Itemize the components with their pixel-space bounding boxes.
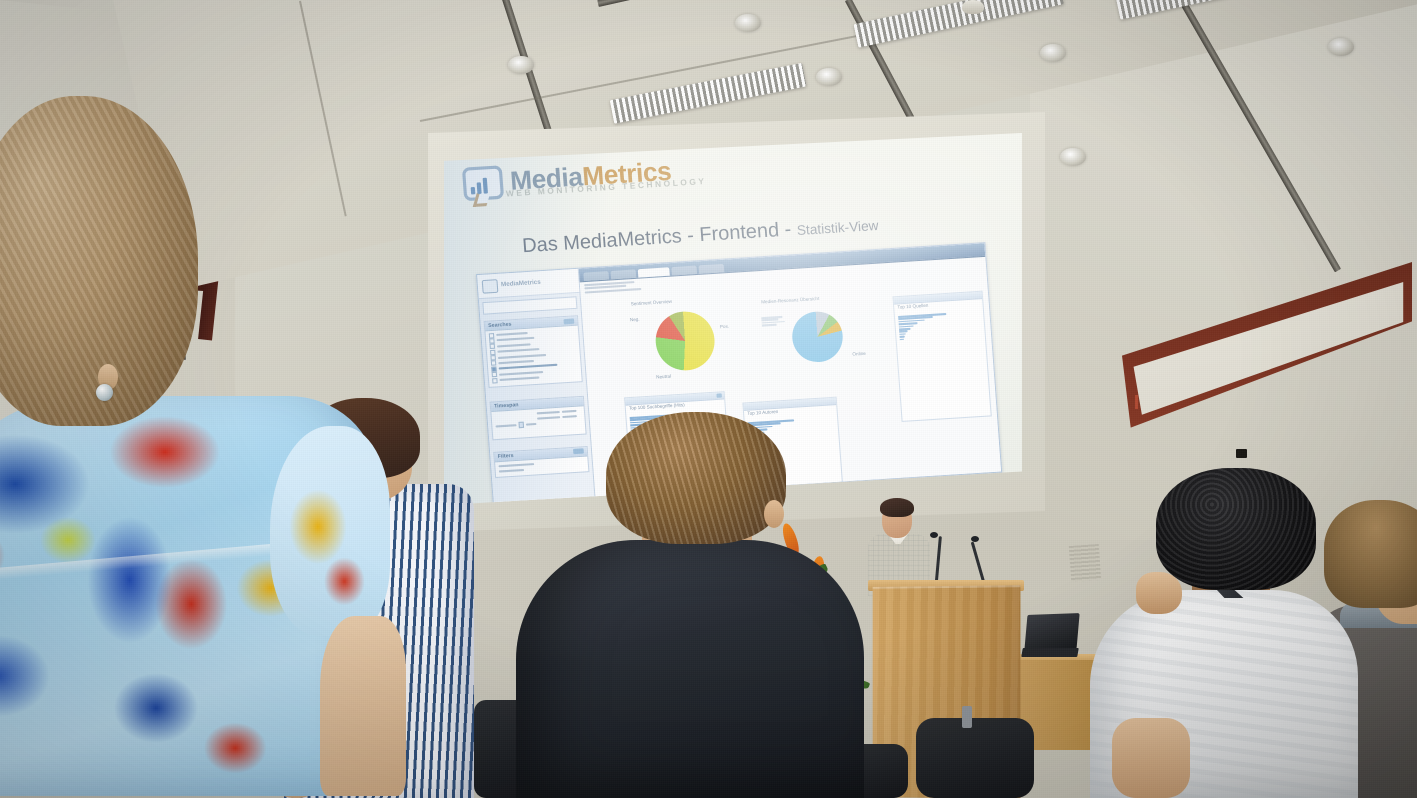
panel-body-searches bbox=[485, 326, 581, 387]
dark-navy-shirt bbox=[516, 540, 864, 798]
speech-bubble-bar-chart-icon bbox=[462, 165, 504, 201]
pie-legend-label: Pos. bbox=[720, 323, 730, 329]
hbars-themen bbox=[992, 308, 1003, 367]
chair bbox=[916, 718, 1034, 798]
laptop-screen bbox=[1024, 613, 1079, 651]
downlight-icon bbox=[735, 14, 761, 32]
chart-card-quellen: Top 10 Quellen bbox=[892, 291, 991, 422]
downlight-icon bbox=[1040, 44, 1066, 62]
chart-card-sentiment: Sentiment Overview Neg. Pos. Neutral bbox=[627, 293, 751, 384]
person-white-shirt bbox=[1108, 468, 1358, 798]
sidebar-logo-icon bbox=[482, 279, 499, 294]
hbars-quellen bbox=[895, 309, 985, 343]
chart-title-quellen: Top 10 Quellen bbox=[897, 303, 928, 310]
pie-legend-label: Neg. bbox=[630, 316, 640, 322]
dashboard-sidebar-logo: MediaMetrics bbox=[477, 269, 579, 299]
pie-legend-label: Neutral bbox=[656, 373, 671, 379]
tab-export[interactable] bbox=[699, 264, 725, 274]
chart-title-sentiment: Sentiment Overview bbox=[631, 299, 673, 307]
person-dark-shirt bbox=[520, 412, 860, 798]
interpreter-booth-window bbox=[1122, 262, 1412, 442]
downlight-icon bbox=[1328, 38, 1354, 56]
earring bbox=[96, 384, 113, 401]
panel-header-timespan-label: Timespan bbox=[494, 401, 519, 409]
hand bbox=[1136, 572, 1182, 614]
forearm bbox=[1112, 718, 1190, 798]
sidebar-logo-text: MediaMetrics bbox=[501, 280, 541, 289]
slide-title-suffix: Statistik-View bbox=[796, 217, 879, 238]
downlight-icon bbox=[816, 68, 842, 86]
microphone-head-icon bbox=[971, 536, 979, 542]
chair-post bbox=[962, 706, 972, 728]
pie-chart-sentiment bbox=[654, 310, 717, 372]
presentation-room-photo: MediaMetrics Web Monitoring Technology D… bbox=[0, 0, 1417, 798]
tab-dashboard[interactable] bbox=[583, 271, 609, 281]
dashboard-search-input[interactable] bbox=[482, 296, 577, 315]
sidebar-panel-searches: Searches bbox=[484, 315, 583, 387]
hair bbox=[1156, 468, 1316, 590]
smoke-detector-icon bbox=[962, 0, 984, 14]
tab-reports[interactable] bbox=[671, 266, 697, 276]
pie-legend-label: Online bbox=[852, 351, 866, 357]
chart-card-resonanz: Medien-Resonanz Übersicht Online bbox=[758, 291, 890, 383]
person-painted-print-top bbox=[0, 96, 400, 798]
downlight-icon bbox=[508, 56, 534, 74]
card-menu-icon[interactable] bbox=[716, 393, 722, 398]
ear bbox=[764, 500, 784, 528]
pie-legend-resonanz bbox=[761, 316, 787, 327]
wall-fixture-icon bbox=[1236, 449, 1247, 458]
laptop-keyboard bbox=[1021, 648, 1079, 657]
panel-header-filters-label: Filters bbox=[498, 452, 514, 459]
presenter-hair bbox=[880, 498, 914, 517]
tab-clippings[interactable] bbox=[611, 269, 637, 279]
panel-header-searches-label: Searches bbox=[488, 321, 512, 329]
wall-speaker-grille bbox=[1069, 544, 1101, 582]
pie-chart-resonanz bbox=[790, 310, 844, 363]
chart-title-themen: Top 10 Themen / Keywords bbox=[994, 301, 1002, 310]
microphone-head-icon bbox=[930, 532, 938, 538]
downlight-icon bbox=[1060, 148, 1086, 166]
panel-toolbar-icon[interactable] bbox=[563, 318, 574, 324]
upper-arm bbox=[320, 616, 406, 796]
hair bbox=[606, 412, 786, 544]
chart-title-resonanz: Medien-Resonanz Übersicht bbox=[761, 296, 819, 305]
shoulder bbox=[270, 426, 390, 636]
slide-title-main: Das MediaMetrics - Frontend - bbox=[522, 218, 798, 257]
booth-accent-marker bbox=[1135, 395, 1138, 409]
